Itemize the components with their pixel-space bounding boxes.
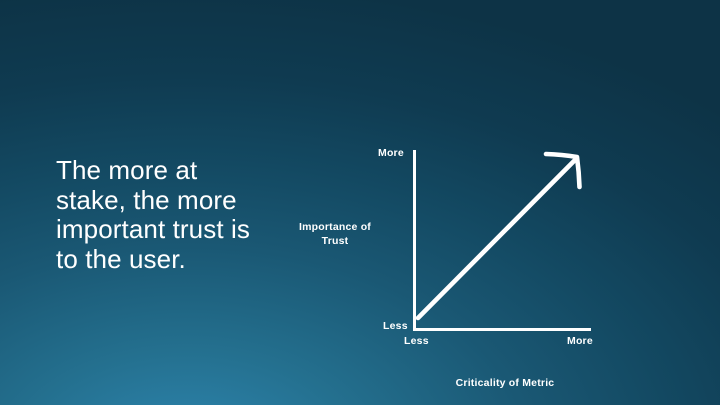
x-axis-title: Criticality of Metric <box>400 377 610 389</box>
slide-canvas: The more at stake, the more important tr… <box>0 0 720 405</box>
y-axis-title: Importance of Trust <box>286 220 384 248</box>
trust-criticality-chart: More Less Less More Importance of Trust … <box>0 0 720 405</box>
trend-arrow-icon <box>400 140 600 340</box>
